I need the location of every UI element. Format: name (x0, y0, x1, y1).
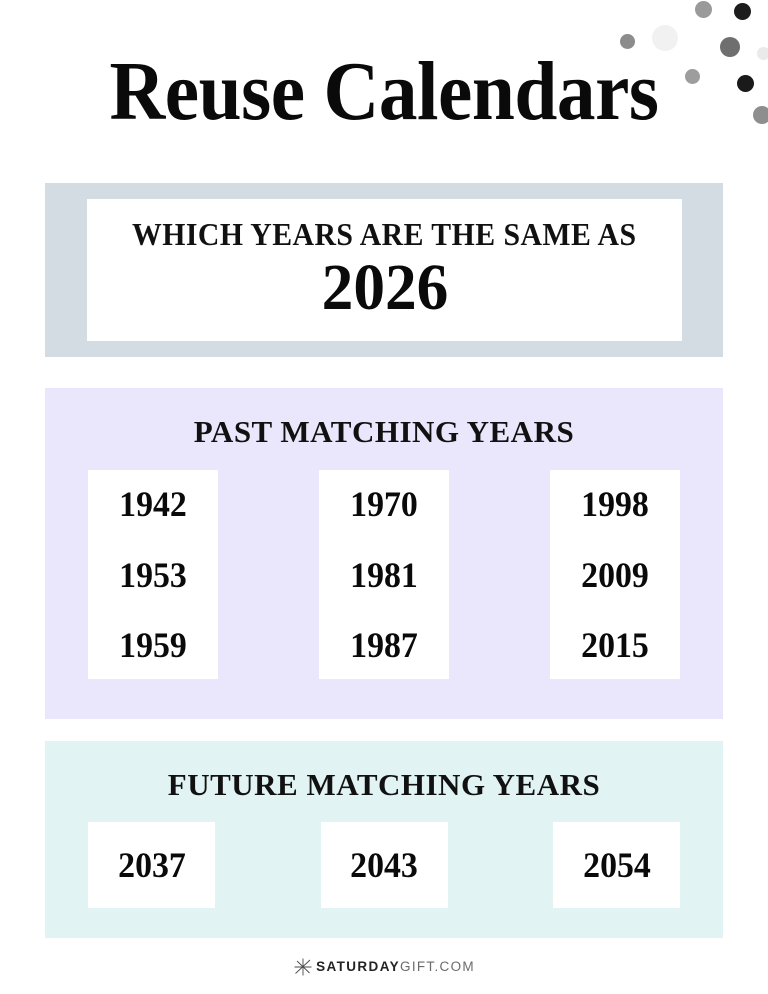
year-value: 1942 (119, 486, 187, 522)
poster-page: Reuse Calendars WHICH YEARS ARE THE SAME… (0, 0, 768, 994)
footer-brand-name: SATURDAY (316, 959, 400, 974)
year-value: 2043 (350, 847, 418, 883)
footer: SATURDAYGIFT.COM (0, 957, 768, 977)
question-card: WHICH YEARS ARE THE SAME AS 2026 (87, 199, 682, 341)
year-value: 1981 (350, 557, 418, 593)
year-card: 2054 (553, 822, 680, 908)
year-card: 199820092015 (550, 470, 680, 679)
confetti-dot-icon (757, 47, 768, 60)
question-label: WHICH YEARS ARE THE SAME AS (132, 218, 637, 250)
future-year-cards: 203720432054 (45, 822, 723, 908)
year-value: 1959 (119, 627, 187, 663)
past-matching-years-section: PAST MATCHING YEARS 19421953195919701981… (45, 388, 723, 719)
past-section-title: PAST MATCHING YEARS (45, 416, 723, 447)
question-year: 2026 (321, 254, 448, 321)
confetti-dot-icon (737, 75, 754, 92)
year-card: 2043 (321, 822, 448, 908)
confetti-dot-icon (753, 106, 768, 124)
page-title: Reuse Calendars (31, 50, 738, 134)
past-year-cards: 194219531959197019811987199820092015 (45, 470, 723, 679)
year-card: 2037 (88, 822, 215, 908)
year-value: 2009 (581, 557, 649, 593)
future-matching-years-section: FUTURE MATCHING YEARS 203720432054 (45, 741, 723, 938)
year-value: 1953 (119, 557, 187, 593)
question-band: WHICH YEARS ARE THE SAME AS 2026 (45, 183, 723, 357)
year-card: 197019811987 (319, 470, 449, 679)
footer-brand: SATURDAYGIFT.COM (316, 960, 475, 974)
year-value: 2054 (583, 847, 651, 883)
footer-brand-suffix: GIFT.COM (400, 959, 475, 974)
year-value: 1970 (350, 486, 418, 522)
year-value: 1987 (350, 627, 418, 663)
asterisk-star-icon (293, 957, 313, 977)
year-value: 2037 (118, 847, 186, 883)
future-section-title: FUTURE MATCHING YEARS (45, 769, 723, 800)
year-card: 194219531959 (88, 470, 218, 679)
confetti-dot-icon (695, 1, 712, 18)
year-value: 2015 (581, 627, 649, 663)
year-value: 1998 (581, 486, 649, 522)
confetti-dot-icon (734, 3, 751, 20)
